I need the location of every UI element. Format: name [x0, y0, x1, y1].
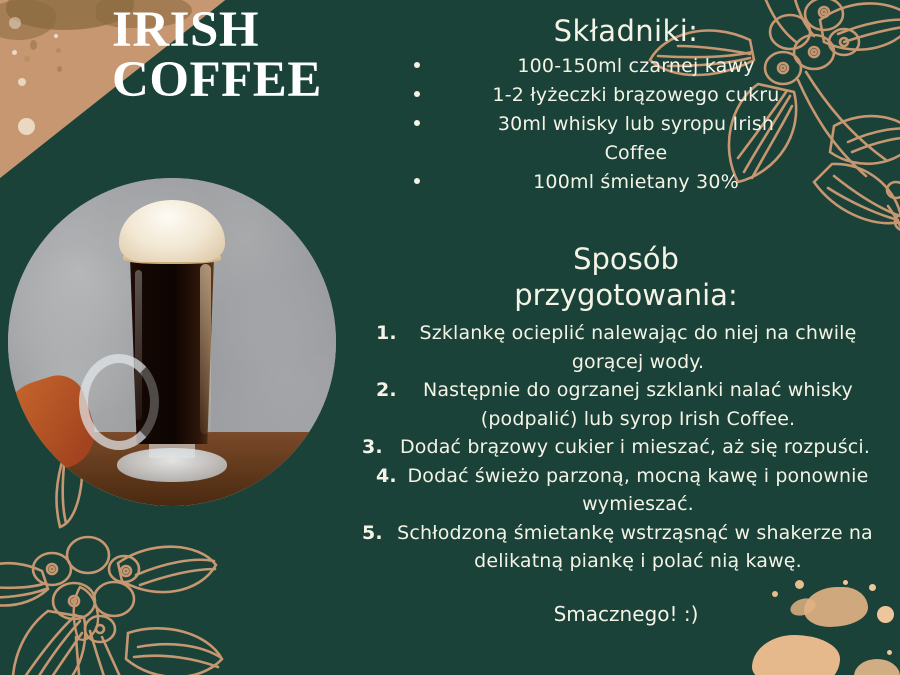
list-item-continuation: Coffee	[352, 139, 900, 168]
page-title: IRISH COFFEE	[112, 6, 322, 106]
list-item: 1. Szklankę ocieplić nalewając do niej n…	[352, 319, 900, 348]
step-number: 4.	[376, 462, 397, 491]
bullet-icon	[414, 62, 420, 68]
preparation-heading-line-2: przygotowania:	[352, 278, 900, 313]
step-number: 2.	[376, 376, 397, 405]
step-text: delikatną piankę i polać nią kawę.	[474, 550, 802, 572]
small-leaf-icon	[66, 585, 110, 641]
list-item: 4. Dodać świeżo parzoną, mocną kawę i po…	[352, 462, 900, 491]
step-text: (podpalić) lub syrop Irish Coffee.	[481, 408, 795, 430]
recipe-content: Składniki: 100-150ml czarnej kawy 1-2 ły…	[352, 0, 900, 675]
stain-dot-icon	[9, 17, 21, 29]
glass-mug	[113, 204, 231, 472]
list-item-continuation: delikatną piankę i polać nią kawę.	[352, 547, 900, 576]
ingredients-heading: Składniki:	[352, 14, 900, 48]
outro-text: Smacznego! :)	[352, 602, 900, 626]
step-number: 3.	[362, 433, 383, 462]
list-item: 30ml whisky lub syropu Irish	[352, 110, 900, 139]
stain-dot-icon	[24, 56, 30, 62]
glass-highlight	[200, 264, 211, 434]
stain-dot-icon	[30, 40, 37, 50]
stain-dot-icon	[56, 48, 61, 53]
title-line-1: IRISH	[112, 6, 322, 56]
step-text: Szklankę ocieplić nalewając do niej na c…	[420, 322, 857, 344]
list-item: 1-2 łyżeczki brązowego cukru	[352, 81, 900, 110]
list-item: 100-150ml czarnej kawy	[352, 52, 900, 81]
ingredient-text: Coffee	[605, 142, 668, 164]
step-text: Schłodzoną śmietankę wstrząsnąć w shaker…	[397, 522, 873, 544]
title-line-2: COFFEE	[112, 56, 322, 106]
list-item: 2. Następnie do ogrzanej szklanki nalać …	[352, 376, 900, 405]
stain-dot-icon	[54, 34, 58, 38]
ingredient-text: 100-150ml czarnej kawy	[517, 55, 754, 77]
ingredient-text: 30ml whisky lub syropu Irish	[498, 113, 774, 135]
stain-dot-icon	[12, 50, 17, 55]
glass-handle	[79, 354, 159, 450]
bullet-icon	[414, 120, 420, 126]
list-item-continuation: (podpalić) lub syrop Irish Coffee.	[352, 405, 900, 434]
stain-dot-icon	[18, 78, 26, 86]
step-text: wymieszać.	[582, 493, 694, 515]
ingredients-list: 100-150ml czarnej kawy 1-2 łyżeczki brąz…	[352, 52, 900, 196]
glass-cream-foam	[119, 200, 225, 262]
ingredient-text: 1-2 łyżeczki brązowego cukru	[492, 84, 779, 106]
list-item-continuation: wymieszać.	[352, 490, 900, 519]
bullet-icon	[414, 178, 420, 184]
step-text: gorącej wody.	[572, 351, 704, 373]
stain-dot-icon	[57, 66, 62, 72]
preparation-heading: Sposób przygotowania:	[352, 242, 900, 313]
step-text: Dodać brązowy cukier i mieszać, aż się r…	[400, 436, 870, 458]
step-text: Dodać świeżo parzoną, mocną kawę i ponow…	[408, 465, 869, 487]
bullet-icon	[414, 91, 420, 97]
list-item: 3. Dodać brązowy cukier i mieszać, aż si…	[352, 433, 900, 462]
ingredient-text: 100ml śmietany 30%	[533, 171, 739, 193]
step-text: Następnie do ogrzanej szklanki nalać whi…	[423, 379, 853, 401]
preparation-steps: 1. Szklankę ocieplić nalewając do niej n…	[352, 319, 900, 576]
list-item-continuation: gorącej wody.	[352, 348, 900, 377]
recipe-card: IRISH COFFEE Składniki: 100-150ml czarne…	[0, 0, 900, 675]
preparation-heading-line-1: Sposób	[352, 242, 900, 277]
step-number: 5.	[362, 519, 383, 548]
irish-coffee-photo	[8, 178, 336, 506]
stain-dot-icon	[18, 118, 35, 135]
list-item: 5. Schłodzoną śmietankę wstrząsnąć w sha…	[352, 519, 900, 548]
list-item: 100ml śmietany 30%	[352, 168, 900, 197]
step-number: 1.	[376, 319, 397, 348]
